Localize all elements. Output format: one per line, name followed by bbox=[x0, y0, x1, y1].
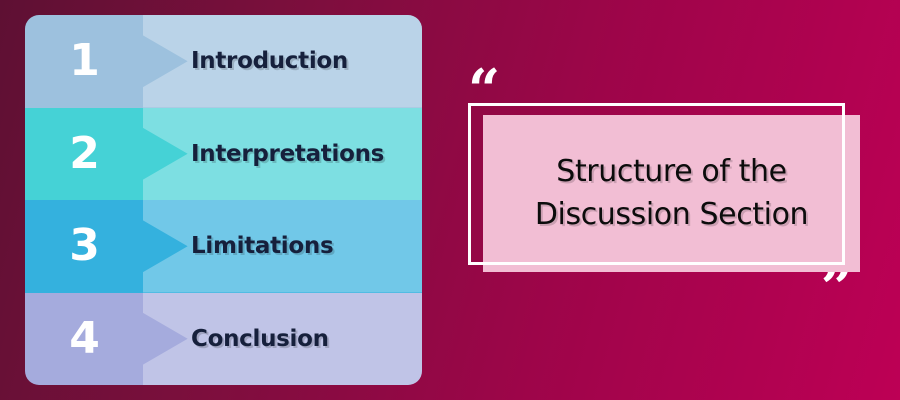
step-number: 2 bbox=[25, 132, 143, 176]
title-block: “ Structure of the Discussion Section ” bbox=[468, 66, 863, 306]
step-number: 3 bbox=[25, 224, 143, 268]
step-row[interactable]: 4 Conclusion bbox=[25, 293, 422, 386]
title-outline-box bbox=[468, 103, 845, 265]
step-row[interactable]: 3 Limitations bbox=[25, 200, 422, 293]
slide-canvas: 1 Introduction 2 Interpretations 3 Limit… bbox=[0, 0, 900, 400]
step-number: 4 bbox=[25, 317, 143, 361]
step-number: 1 bbox=[25, 39, 143, 83]
step-label: Interpretations bbox=[191, 141, 384, 167]
step-label: Conclusion bbox=[191, 326, 329, 352]
step-label: Introduction bbox=[191, 48, 348, 74]
step-label: Limitations bbox=[191, 233, 333, 259]
step-row[interactable]: 2 Interpretations bbox=[25, 108, 422, 201]
steps-card: 1 Introduction 2 Interpretations 3 Limit… bbox=[25, 15, 422, 385]
step-row[interactable]: 1 Introduction bbox=[25, 15, 422, 108]
